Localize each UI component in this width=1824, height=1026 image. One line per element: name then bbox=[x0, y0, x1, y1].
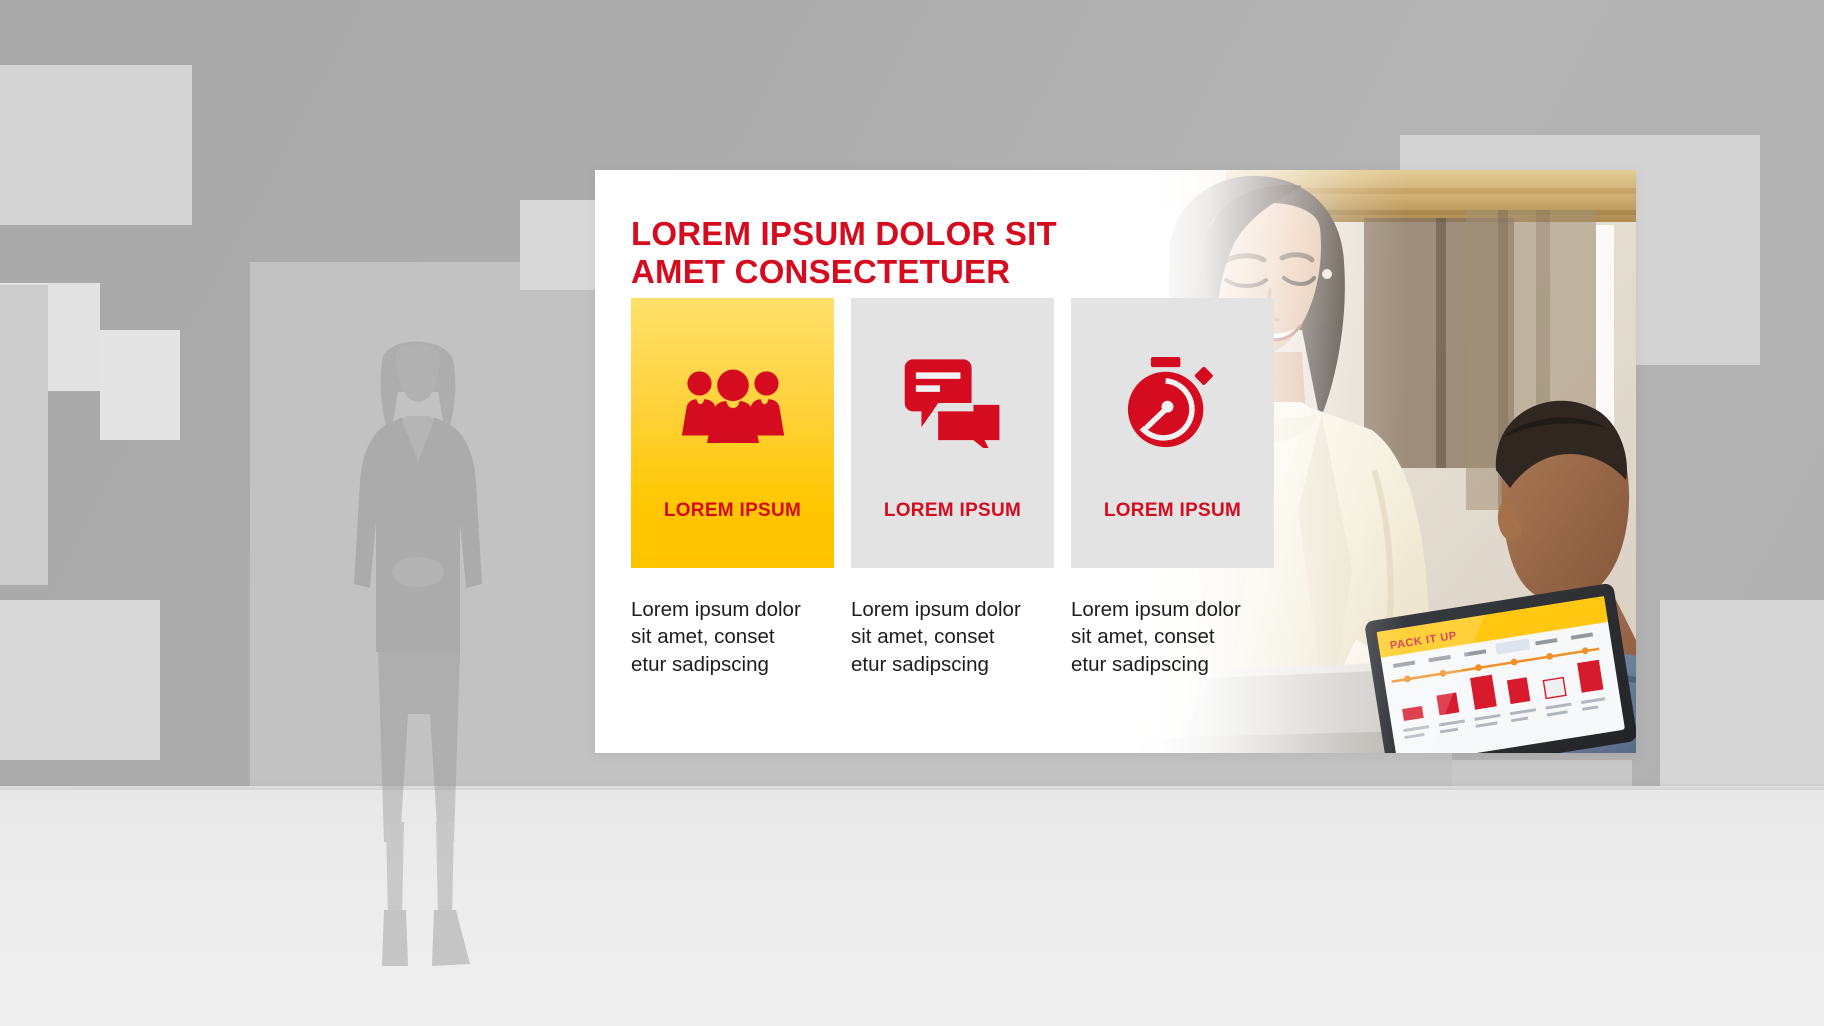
background-rectangle bbox=[0, 65, 192, 225]
chat-bubbles-icon bbox=[851, 338, 1054, 468]
feature-tile-3-label: Lorem ipsum bbox=[1071, 500, 1274, 522]
background-rectangle bbox=[0, 600, 160, 760]
background-rectangle bbox=[1660, 600, 1824, 800]
background-rectangle bbox=[0, 283, 100, 391]
feature-descriptions-row: Lorem ipsum dolor sit amet, conset etur … bbox=[631, 596, 1274, 678]
stopwatch-icon bbox=[1071, 338, 1274, 468]
feature-tile-2-label: Lorem ipsum bbox=[851, 500, 1054, 522]
feature-tile-1-label: Lorem ipsum bbox=[631, 500, 834, 522]
people-group-icon bbox=[631, 338, 834, 468]
feature-tile-3-description: Lorem ipsum dolor sit amet, conset etur … bbox=[1071, 596, 1274, 678]
background-rectangle bbox=[0, 285, 48, 585]
background-floor-shadow bbox=[0, 782, 1824, 790]
card-content: Lorem ipsum dolor sit amet consectetuer bbox=[631, 170, 1251, 753]
feature-tile-1[interactable]: Lorem ipsum bbox=[631, 298, 834, 568]
background-rectangle bbox=[100, 330, 180, 440]
standing-person-silhouette bbox=[318, 322, 518, 982]
feature-tile-2-description: Lorem ipsum dolor sit amet, conset etur … bbox=[851, 596, 1054, 678]
content-card: PACK IT UP bbox=[595, 170, 1636, 753]
feature-tile-1-description: Lorem ipsum dolor sit amet, conset etur … bbox=[631, 596, 834, 678]
slide-stage: PACK IT UP bbox=[0, 0, 1824, 1026]
feature-tiles-row: Lorem ipsum bbox=[631, 298, 1274, 568]
feature-tile-2[interactable]: Lorem ipsum bbox=[851, 298, 1054, 568]
background-floor-band bbox=[0, 786, 1824, 1026]
feature-tile-3[interactable]: Lorem ipsum bbox=[1071, 298, 1274, 568]
page-title: Lorem ipsum dolor sit amet consectetuer bbox=[631, 215, 1231, 292]
